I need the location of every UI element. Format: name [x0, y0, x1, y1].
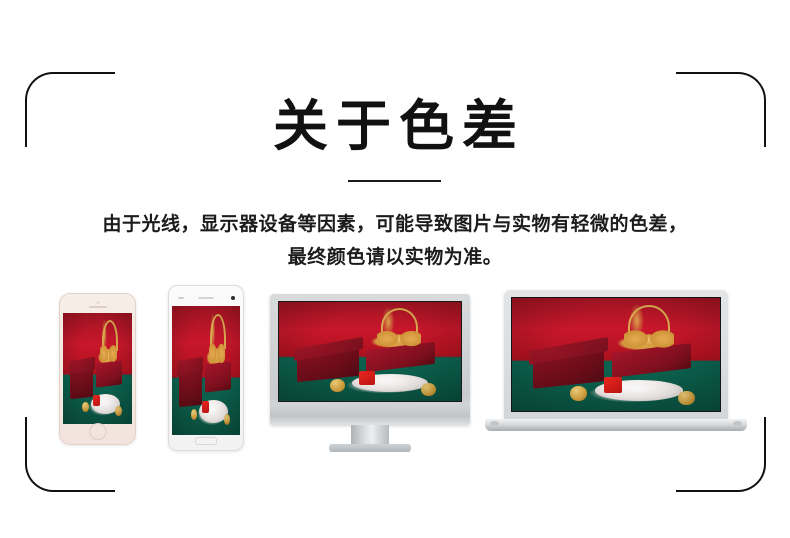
home-button-icon[interactable]	[195, 437, 217, 445]
imac-body	[270, 294, 470, 425]
macbook-foot-left	[490, 421, 499, 426]
artwork-vignette	[172, 306, 240, 435]
artwork-vignette	[512, 298, 720, 411]
earpiece-speaker-icon	[198, 297, 214, 299]
title-divider	[348, 180, 441, 182]
imac-screen	[278, 301, 462, 402]
sensor-row	[175, 295, 237, 301]
artwork-vignette	[63, 313, 132, 424]
earpiece-speaker-icon	[89, 306, 107, 308]
apple-logo-icon	[365, 407, 376, 420]
iphone-screen	[63, 313, 132, 424]
device-macbook	[485, 290, 747, 442]
page-root: 关于色差 由于光线，显示器设备等因素，可能导致图片与实物有轻微的色差， 最终颜色…	[0, 0, 790, 538]
imac-chin	[270, 403, 470, 425]
macbook-foot-right	[733, 421, 742, 426]
proximity-sensor-icon	[178, 297, 184, 299]
disclaimer-line-2: 最终颜色请以实物为准。	[0, 241, 790, 274]
macbook-lid	[504, 290, 728, 421]
disclaimer-line-1: 由于光线，显示器设备等因素，可能导致图片与实物有轻微的色差，	[0, 208, 790, 241]
product-artwork	[512, 298, 720, 411]
product-artwork	[279, 302, 461, 401]
macbook-screen	[511, 297, 721, 412]
product-artwork	[63, 313, 132, 424]
product-artwork	[172, 306, 240, 435]
imac-stand-foot	[329, 444, 411, 452]
macbook-base	[485, 419, 747, 431]
android-screen	[172, 306, 240, 435]
device-android-phone	[168, 285, 244, 451]
device-iphone	[59, 293, 136, 445]
page-title: 关于色差	[0, 94, 790, 158]
disclaimer-text: 由于光线，显示器设备等因素，可能导致图片与实物有轻微的色差， 最终颜色请以实物为…	[0, 208, 790, 274]
home-button-icon[interactable]	[89, 423, 106, 440]
front-camera-icon	[96, 301, 99, 304]
device-imac	[270, 294, 470, 454]
artwork-vignette	[279, 302, 461, 401]
device-showcase	[0, 280, 790, 460]
front-camera-icon	[231, 296, 235, 300]
